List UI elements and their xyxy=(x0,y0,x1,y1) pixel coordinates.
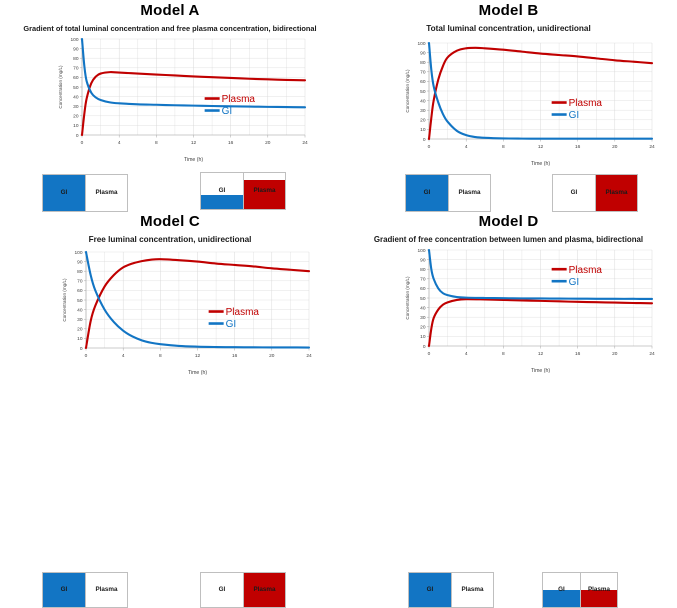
model-c-diagram-right: GI Plasma xyxy=(200,572,286,608)
svg-text:4: 4 xyxy=(465,144,468,150)
diagram: GI Plasma xyxy=(42,572,128,608)
svg-text:16: 16 xyxy=(575,351,581,357)
diagram-cell-gi: GI xyxy=(201,173,243,209)
svg-text:20: 20 xyxy=(73,114,79,120)
diagram-cell-gi: GI xyxy=(201,573,243,607)
svg-text:40: 40 xyxy=(77,307,83,313)
diagram-label-gi: GI xyxy=(571,190,578,196)
diagram-label-plasma: Plasma xyxy=(461,587,483,593)
svg-text:Time (h): Time (h) xyxy=(188,370,207,376)
diagram-cell-gi: GI xyxy=(543,573,580,607)
diagram-label-gi: GI xyxy=(219,188,226,194)
svg-text:70: 70 xyxy=(73,66,79,72)
svg-text:60: 60 xyxy=(77,288,83,294)
model-d-diagram-left: GI Plasma xyxy=(408,572,494,608)
svg-text:90: 90 xyxy=(77,259,83,265)
svg-text:40: 40 xyxy=(73,94,79,100)
panel-model-a: Model A Gradient of total luminal concen… xyxy=(0,0,340,205)
svg-text:4: 4 xyxy=(122,353,125,359)
model-a-subtitle: Gradient of total luminal concentration … xyxy=(0,19,340,33)
svg-text:Plasma: Plasma xyxy=(226,307,260,318)
svg-text:70: 70 xyxy=(420,70,426,76)
panel-model-c: Model C Free luminal concentration, unid… xyxy=(0,205,340,405)
svg-text:24: 24 xyxy=(306,353,312,359)
svg-text:Concentration (mg/L): Concentration (mg/L) xyxy=(405,69,410,113)
diagram-cell-plasma: Plasma xyxy=(243,173,285,209)
svg-text:16: 16 xyxy=(575,144,581,150)
svg-text:0: 0 xyxy=(423,344,426,350)
svg-text:12: 12 xyxy=(538,351,544,357)
diagram-cell-plasma: Plasma xyxy=(85,573,127,607)
diagram-cell-plasma: Plasma xyxy=(580,573,617,607)
model-b-chart: 100908070605040302010004812162024Time (h… xyxy=(395,39,660,169)
model-b-title: Model B xyxy=(340,0,677,19)
svg-text:20: 20 xyxy=(420,118,426,124)
svg-text:Plasma: Plasma xyxy=(569,98,603,109)
svg-text:4: 4 xyxy=(465,351,468,357)
model-c-title: Model C xyxy=(0,205,340,230)
diagram-label-plasma: Plasma xyxy=(253,188,275,194)
svg-text:8: 8 xyxy=(155,140,158,146)
svg-text:8: 8 xyxy=(502,144,505,150)
svg-text:90: 90 xyxy=(420,257,426,263)
svg-text:60: 60 xyxy=(420,79,426,85)
svg-text:100: 100 xyxy=(417,41,425,47)
panel-model-d: Model D Gradient of free concentration b… xyxy=(340,205,677,405)
svg-text:Time (h): Time (h) xyxy=(184,157,203,163)
svg-text:10: 10 xyxy=(420,127,426,133)
svg-text:12: 12 xyxy=(195,353,201,359)
svg-text:70: 70 xyxy=(77,279,83,285)
model-a-chart: 100908070605040302010004812162024Time (h… xyxy=(48,35,313,165)
diagram-label-gi: GI xyxy=(61,587,68,593)
model-d-subtitle: Gradient of free concentration between l… xyxy=(340,230,677,244)
diagram-label-gi: GI xyxy=(219,587,226,593)
model-c-chart: 100908070605040302010004812162024Time (h… xyxy=(52,248,317,378)
diagram-cell-gi: GI xyxy=(43,573,85,607)
diagram-label-gi: GI xyxy=(558,587,565,593)
svg-text:8: 8 xyxy=(502,351,505,357)
svg-text:30: 30 xyxy=(420,315,426,321)
svg-text:Concentration (mg/L): Concentration (mg/L) xyxy=(62,278,67,322)
svg-text:0: 0 xyxy=(428,144,431,150)
svg-text:30: 30 xyxy=(77,317,83,323)
diagram: GI Plasma xyxy=(542,572,618,608)
diagram-cell-plasma: Plasma xyxy=(243,573,285,607)
diagram: GI Plasma xyxy=(200,572,286,608)
diagram-label-plasma: Plasma xyxy=(95,190,117,196)
svg-text:30: 30 xyxy=(73,104,79,110)
svg-text:0: 0 xyxy=(423,137,426,143)
svg-text:GI: GI xyxy=(569,277,580,288)
svg-text:20: 20 xyxy=(612,144,618,150)
svg-text:0: 0 xyxy=(85,353,88,359)
diagram-label-plasma: Plasma xyxy=(588,587,610,593)
diagram-cell-plasma: Plasma xyxy=(451,573,493,607)
svg-text:100: 100 xyxy=(70,37,78,43)
svg-text:GI: GI xyxy=(569,110,580,121)
svg-text:0: 0 xyxy=(80,346,83,352)
svg-text:40: 40 xyxy=(420,98,426,104)
svg-text:0: 0 xyxy=(76,133,79,139)
svg-text:4: 4 xyxy=(118,140,121,146)
diagram-label-plasma: Plasma xyxy=(458,190,480,196)
model-a-title: Model A xyxy=(0,0,340,19)
diagram-label-plasma: Plasma xyxy=(253,587,275,593)
svg-text:50: 50 xyxy=(77,298,83,304)
svg-text:80: 80 xyxy=(73,56,79,62)
svg-text:24: 24 xyxy=(649,144,655,150)
svg-text:Plasma: Plasma xyxy=(569,265,603,276)
svg-text:24: 24 xyxy=(649,351,655,357)
svg-text:24: 24 xyxy=(302,140,308,146)
svg-text:100: 100 xyxy=(74,250,82,256)
svg-text:Concentration (mg/L): Concentration (mg/L) xyxy=(58,65,63,109)
svg-text:20: 20 xyxy=(77,327,83,333)
svg-text:50: 50 xyxy=(420,89,426,95)
svg-text:100: 100 xyxy=(417,248,425,254)
svg-text:Plasma: Plasma xyxy=(222,94,256,105)
svg-text:20: 20 xyxy=(265,140,271,146)
svg-text:Concentration (mg/L): Concentration (mg/L) xyxy=(405,276,410,320)
diagram-label-gi: GI xyxy=(424,190,431,196)
svg-text:12: 12 xyxy=(191,140,197,146)
model-c-subtitle: Free luminal concentration, unidirection… xyxy=(0,230,340,244)
panel-model-b: Model B Total luminal concentration, uni… xyxy=(340,0,677,205)
model-d-title: Model D xyxy=(340,205,677,230)
svg-text:70: 70 xyxy=(420,277,426,283)
svg-text:20: 20 xyxy=(269,353,275,359)
svg-text:80: 80 xyxy=(77,269,83,275)
svg-text:50: 50 xyxy=(420,296,426,302)
svg-text:Time (h): Time (h) xyxy=(531,161,550,167)
diagram-cell-gi: GI xyxy=(409,573,451,607)
svg-text:20: 20 xyxy=(612,351,618,357)
model-c-diagram-left: GI Plasma xyxy=(42,572,128,608)
figure-grid: Model A Gradient of total luminal concen… xyxy=(0,0,677,405)
svg-text:80: 80 xyxy=(420,267,426,273)
svg-text:30: 30 xyxy=(420,108,426,114)
svg-text:GI: GI xyxy=(222,106,233,117)
svg-text:90: 90 xyxy=(73,46,79,52)
svg-text:GI: GI xyxy=(226,319,237,330)
svg-text:10: 10 xyxy=(420,334,426,340)
model-d-chart: 100908070605040302010004812162024Time (h… xyxy=(395,246,660,376)
svg-text:8: 8 xyxy=(159,353,162,359)
svg-text:60: 60 xyxy=(73,75,79,81)
model-b-subtitle: Total luminal concentration, unidirectio… xyxy=(340,19,677,33)
svg-text:90: 90 xyxy=(420,50,426,56)
svg-text:40: 40 xyxy=(420,305,426,311)
diagram-label-plasma: Plasma xyxy=(605,190,627,196)
svg-text:16: 16 xyxy=(232,353,238,359)
model-d-diagram-right: GI Plasma xyxy=(542,572,618,608)
svg-text:Time (h): Time (h) xyxy=(531,368,550,374)
svg-text:80: 80 xyxy=(420,60,426,66)
svg-text:60: 60 xyxy=(420,286,426,292)
diagram-label-gi: GI xyxy=(61,190,68,196)
svg-text:0: 0 xyxy=(428,351,431,357)
diagram-label-plasma: Plasma xyxy=(95,587,117,593)
svg-text:10: 10 xyxy=(73,123,79,129)
svg-text:10: 10 xyxy=(77,336,83,342)
svg-text:12: 12 xyxy=(538,144,544,150)
diagram: GI Plasma xyxy=(408,572,494,608)
diagram-label-gi: GI xyxy=(427,587,434,593)
svg-text:20: 20 xyxy=(420,325,426,331)
svg-text:16: 16 xyxy=(228,140,234,146)
svg-text:50: 50 xyxy=(73,85,79,91)
svg-text:0: 0 xyxy=(81,140,84,146)
